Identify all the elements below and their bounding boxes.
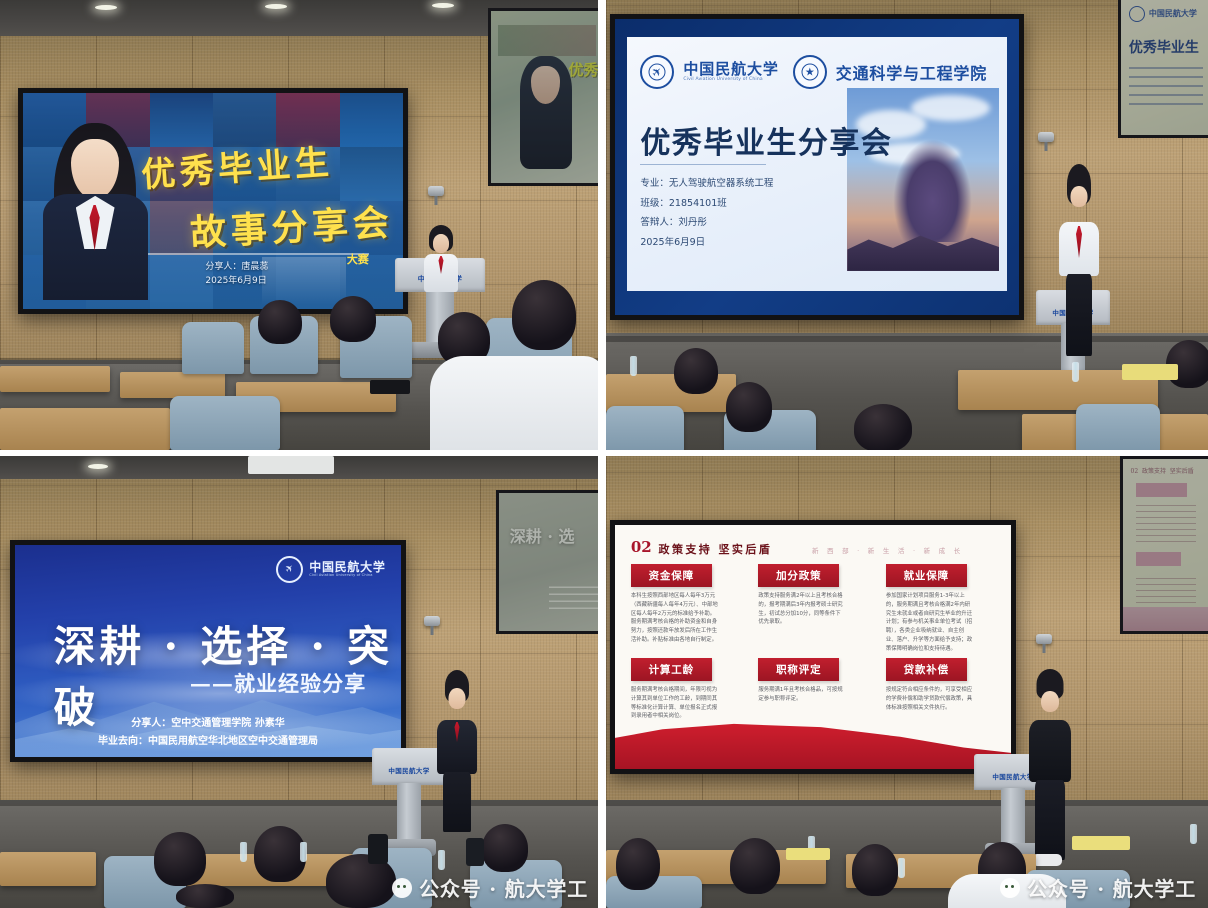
audience-seat [182,322,244,374]
photo-panel-3: 深耕 · 选 中国民航大学 [0,456,598,908]
audience-head [176,884,234,908]
slide-1: 优秀毕业生 故事分享会 大赛 分享人：唐晨蕊 2025年6月9日 [23,93,403,309]
org-name-en: Civil Aviation University of China [683,78,778,83]
audience-person-foreground [430,356,598,450]
tree-silhouette [893,139,972,242]
slide-card: 中国民航大学 Civil Aviation University of Chin… [627,37,1007,292]
audience-head [330,296,376,342]
ceiling-camera-1 [428,186,444,196]
side-screen-caption: 优秀 [569,59,598,80]
policy-box-body: 按规定符合相应条件的，可享受相应的学费补偿和助学贷款代偿政策，具体标准按照相关文… [886,686,973,712]
slide-2: 中国民航大学 Civil Aviation University of Chin… [615,19,1019,315]
side-projection-screen-4: 02 政策支持 坚实后盾 [1120,456,1208,634]
water-bottle [630,356,637,376]
audience-head [482,824,528,872]
audience-head [726,382,772,432]
slide-section-number: 02 [631,538,652,556]
projected-slide-2: 中国民航大学 优秀毕业生 [1121,0,1208,135]
photo-panel-1: 优秀 [0,0,598,450]
policy-box-heading: 加分政策 [758,564,839,587]
audience-seat [606,406,684,450]
policy-box: 职称评定 服务期满1年且考核合格品，可按规定参与职称评定。 [758,658,867,725]
slide-meta: 分享人：唐晨蕊 2025年6月9日 [205,261,268,289]
stage-edge [606,800,1208,806]
ceiling-light [88,464,108,469]
slide-title-line2: 故事分享会 [189,194,395,257]
water-bottle [240,842,247,862]
audience-head [730,838,780,894]
side-screen-title-2: 优秀毕业生 [1129,37,1199,57]
audience-seat [1076,404,1160,450]
desk-row [120,372,225,398]
policy-box-heading: 就业保障 [886,564,967,587]
slide-meta-major: 专业：无人驾驶航空器系统工程 [640,174,773,193]
photo-panel-2: 中国民航大学 优秀毕业生 [606,0,1208,450]
slide-divider [640,164,765,165]
ceiling-light [265,4,287,9]
projected-slide-3: 深耕 · 选 [499,493,598,631]
slide-figure-group [262,257,346,305]
audience-head [854,404,912,450]
policy-box-body: 服务期满1年且考核合格品，可按规定参与职称评定。 [758,686,845,704]
department-name: 交通科学与工程学院 [836,60,987,84]
photo-panel-4: 02 政策支持 坚实后盾 02 政策支持 坚实后盾 新 西 部 · 新 生 活 … [606,456,1208,908]
policy-box-body: 政策支持服务满2年以上且考核合格的，报考期满后3年内报考硕士研究生，初试总分加1… [758,592,845,627]
side-projection-screen-2: 中国民航大学 优秀毕业生 [1118,0,1208,138]
policy-box: 计算工龄 服务期满考核合格期间，年限可视为计算其到单位工作的工龄，到期同其等标准… [631,658,740,725]
policy-box: 资金保障 本科生按照西部地区每人每年3万元（西藏新疆每人每年4万元）、中部地区每… [631,564,740,653]
side-projection-screen-3: 深耕 · 选 [496,490,598,634]
lecture-hall-3: 深耕 · 选 中国民航大学 [0,456,598,908]
phone-on-desk [370,380,410,394]
slide-section-title: 政策支持 坚实后盾 [659,541,773,557]
slide-logo-row: 中国民航大学 Civil Aviation University of Chin… [640,47,987,98]
led-screen-1: 优秀毕业生 故事分享会 大赛 分享人：唐晨蕊 2025年6月9日 [18,88,408,314]
policy-box: 加分政策 政策支持服务满2年以上且考核合格的，报考期满后3年内报考硕士研究生，初… [758,564,867,653]
university-seal-icon [276,556,303,583]
policy-box: 贷款补偿 按规定符合相应条件的，可享受相应的学费补偿和助学贷款代偿政策，具体标准… [886,658,995,725]
lecture-hall-2: 中国民航大学 优秀毕业生 [606,0,1208,450]
water-bottle [438,850,445,870]
audience-person-foreground [948,874,1066,908]
stage-edge [0,800,598,806]
ceiling-light [432,3,454,8]
side-projection-screen-1: 优秀 [488,8,598,186]
slide-surface-1: 优秀毕业生 故事分享会 大赛 分享人：唐晨蕊 2025年6月9日 [23,93,403,309]
slide-surface-3: 中国民航大学 Civil Aviation University of Chin… [15,545,401,757]
slide-portrait [38,123,152,300]
slide-photo [847,88,999,271]
slide-surface-2: 中国民航大学 Civil Aviation University of Chin… [615,19,1019,315]
speaker-4 [1028,684,1072,866]
audience-head [154,832,206,886]
stage-edge [606,336,1208,342]
speaker-3 [436,682,478,832]
audience-head [616,838,660,890]
slide-title: 优秀毕业生分享会 [640,118,892,162]
ceiling-projector [248,456,334,474]
policy-box-body: 参加国家计划项目服务1-3年以上的，服务期满且考核合格满2年内研究生未就业或者自… [886,592,973,653]
audience-head [258,300,302,344]
slide-meta-destination: 毕业去向：中国民用航空华北地区空中交通管理局 [15,733,401,752]
led-screen-2: 中国民航大学 Civil Aviation University of Chin… [610,14,1024,320]
led-screen-4: 02 政策支持 坚实后盾 新 西 部 · 新 生 活 · 新 成 长 资金保障 … [610,520,1016,774]
audience-head [674,348,718,394]
desk-row [0,366,110,392]
audience-seat [170,396,280,450]
org-name-cn: 中国民航大学 [309,561,385,574]
raised-hand-phone [368,834,388,864]
slide-meta-presenter: 分享人：空中交通管理学院 孙素华 [15,715,401,734]
projected-slide-1: 优秀 [491,11,598,183]
slide-meta: 分享人：空中交通管理学院 孙素华 毕业去向：中国民用航空华北地区空中交通管理局 [15,715,401,752]
speaker-2 [1058,178,1100,356]
speaker-1 [422,230,460,292]
podium-logo-3: 中国民航大学 [388,765,429,775]
notebook-stack [786,848,830,860]
slide-surface-4: 02 政策支持 坚实后盾 新 西 部 · 新 生 活 · 新 成 长 资金保障 … [615,525,1011,769]
org-name-en: Civil Aviation University of China [309,574,385,578]
water-bottle [1190,824,1197,844]
projected-slide-4: 02 政策支持 坚实后盾 [1123,459,1208,631]
slide-meta-class: 班级：21854101班 [640,194,773,213]
water-bottle [898,858,905,878]
shoe [1032,854,1062,866]
policy-box-heading: 计算工龄 [631,658,712,681]
raised-hand-phone [466,838,484,866]
desk-row [0,852,96,886]
policy-box-heading: 资金保障 [631,564,712,587]
water-bottle [300,842,307,862]
slide-meta-date: 2025年6月9日 [640,233,773,252]
audience-head [852,844,898,896]
policy-box-heading: 职称评定 [758,658,839,681]
side-screen-title-3: 深耕 · 选 [510,523,575,547]
slide-subtitle: ——就业经验分享 [190,668,366,698]
policy-box-grid: 资金保障 本科生按照西部地区每人每年3万元（西藏新疆每人每年4万元）、中部地区每… [631,564,995,725]
ceiling-camera-3 [424,616,440,626]
slide-logo-row-3: 中国民航大学 Civil Aviation University of Chin… [276,556,385,583]
policy-box-body: 服务期满考核合格期间，年限可视为计算其到单位工作的工龄，到期同其等标准化计算计算… [631,686,718,721]
slide-meta-presenter: 答辩人：刘丹彤 [640,213,773,232]
slide-divider [148,253,368,255]
policy-box: 就业保障 参加国家计划项目服务1-3年以上的，服务期满且考核合格满2年内研究生未… [886,564,995,653]
slide-stamp: 大赛 [347,251,369,267]
slide-corner-tag: 新 西 部 · 新 生 活 · 新 成 长 [812,545,964,555]
audience-head [512,280,576,350]
ceiling-light [95,5,117,10]
ceiling-camera-2 [1038,132,1054,142]
policy-box-heading: 贷款补偿 [886,658,967,681]
policy-box-body: 本科生按照西部地区每人每年3万元（西藏新疆每人每年4万元）、中部地区每人每年2万… [631,592,718,645]
lecture-hall-1: 优秀 [0,0,598,450]
led-screen-3: 中国民航大学 Civil Aviation University of Chin… [10,540,406,762]
department-seal-icon [793,55,827,89]
org-name-cn: 中国民航大学 [683,62,778,78]
ceiling-camera-4 [1036,634,1052,644]
water-bottle [1072,362,1079,382]
photo-collage: 优秀 [0,0,1208,908]
audience-head [254,826,306,882]
slide-meta: 专业：无人驾驶航空器系统工程 班级：21854101班 答辩人：刘丹彤 2025… [640,174,773,252]
slide-presenter: 分享人：唐晨蕊 [205,261,268,275]
slide-3: 中国民航大学 Civil Aviation University of Chin… [15,545,401,757]
slide-4: 02 政策支持 坚实后盾 新 西 部 · 新 生 活 · 新 成 长 资金保障 … [615,525,1011,769]
desk-row [0,408,170,450]
notebook-stack [1072,836,1130,850]
notebook-stack [1122,364,1178,380]
lecture-hall-4: 02 政策支持 坚实后盾 02 政策支持 坚实后盾 新 西 部 · 新 生 活 … [606,456,1208,908]
slide-date: 2025年6月9日 [205,275,268,289]
university-seal-icon [640,55,674,89]
